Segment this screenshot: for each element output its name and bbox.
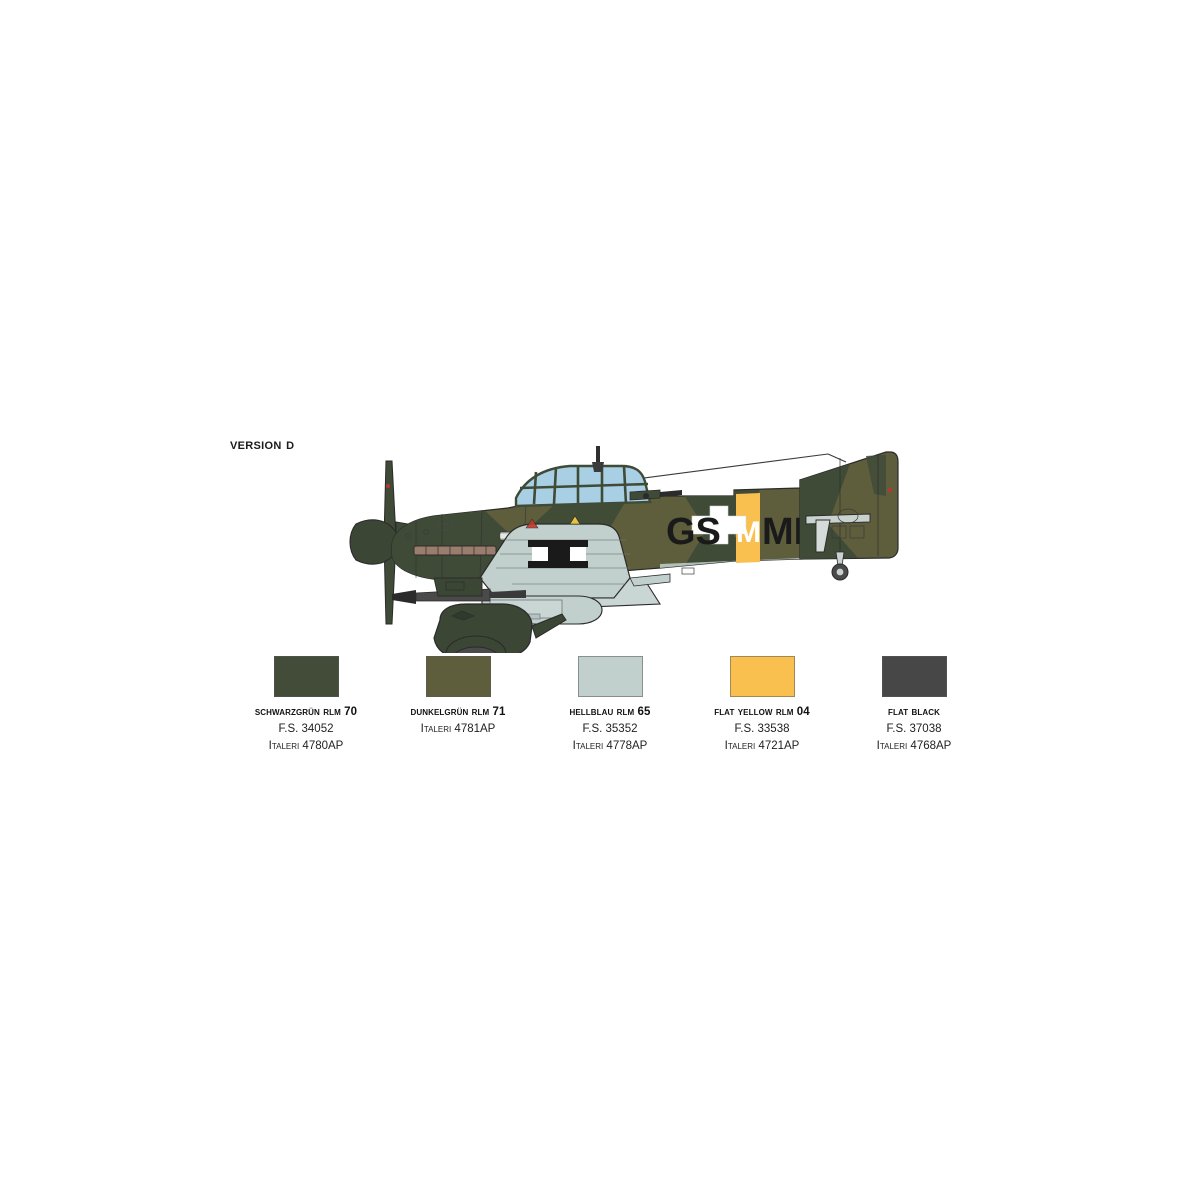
paint-name: Schwarzgrün RLM 70 [255, 706, 357, 718]
page-title: Version D [230, 436, 294, 453]
paint-item: Hellblau RLM 65 F.S. 35352 Italeri 4778A… [534, 656, 686, 752]
aircraft-profile-illustration: GS M MH [330, 428, 930, 653]
paint-italeri-code: Italeri 4780AP [269, 740, 344, 752]
code-left: GS [666, 511, 721, 553]
paint-item: Flat Yellow RLM 04 F.S. 33538 Italeri 47… [686, 656, 838, 752]
color-swatch [426, 656, 491, 697]
paint-italeri-code: Italeri 4768AP [877, 740, 952, 752]
paint-italeri-code: Italeri 4781AP [421, 723, 496, 735]
color-swatch [882, 656, 947, 697]
paint-item: Dunkelgrün RLM 71 Italeri 4781AP [382, 656, 534, 735]
paint-name: Flat Yellow RLM 04 [714, 706, 810, 718]
color-swatch [578, 656, 643, 697]
fuselage-code-text: GS M MH [666, 511, 821, 553]
paint-fs-code: F.S. 34052 [279, 723, 334, 735]
paint-color-legend: Schwarzgrün RLM 70 F.S. 34052 Italeri 47… [230, 656, 990, 766]
paint-fs-code: F.S. 37038 [887, 723, 942, 735]
paint-item: Flat Black F.S. 37038 Italeri 4768AP [838, 656, 990, 752]
paint-italeri-code: Italeri 4778AP [573, 740, 648, 752]
paint-name: Hellblau RLM 65 [569, 706, 650, 718]
paint-fs-code: F.S. 35352 [583, 723, 638, 735]
tail-assembly [800, 452, 898, 580]
paint-name: Dunkelgrün RLM 71 [410, 706, 505, 718]
exhaust-stacks [414, 546, 496, 555]
color-swatch [274, 656, 339, 697]
color-swatch [730, 656, 795, 697]
instruction-sheet-page: Version D [0, 0, 1200, 1200]
paint-item: Schwarzgrün RLM 70 F.S. 34052 Italeri 47… [230, 656, 382, 752]
paint-fs-code: F.S. 33538 [735, 723, 790, 735]
paint-italeri-code: Italeri 4721AP [725, 740, 800, 752]
paint-name: Flat Black [888, 706, 940, 718]
code-band-letter: M [736, 516, 761, 549]
